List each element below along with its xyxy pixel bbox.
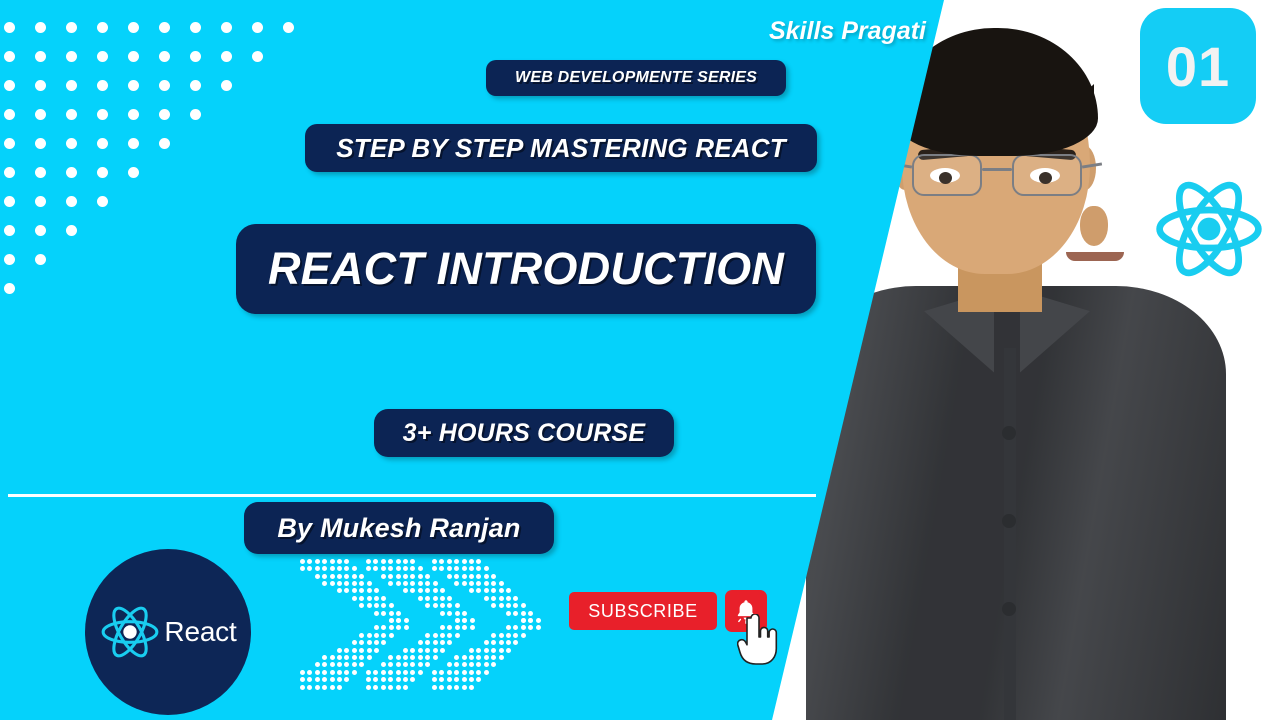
- decor-dot: [66, 167, 77, 178]
- decor-dot: [66, 196, 77, 207]
- halftone-chevron-arrows: [300, 560, 540, 680]
- chevron-dot: [367, 648, 372, 653]
- chevron-dot: [462, 581, 467, 586]
- chevron-dot: [396, 662, 401, 667]
- chevron-dot: [330, 670, 335, 675]
- chevron-dot: [388, 655, 393, 660]
- chevron-dot: [352, 581, 357, 586]
- chevron-dot: [476, 670, 481, 675]
- decor-dot: [35, 254, 46, 265]
- chevron-dot: [404, 618, 409, 623]
- chevron-dot: [396, 559, 401, 564]
- chevron-dot: [322, 662, 327, 667]
- chevron-dot: [484, 574, 489, 579]
- chevron-dot: [396, 685, 401, 690]
- lens-right: [1012, 154, 1082, 196]
- decor-dot: [252, 51, 263, 62]
- chevron-dot: [440, 648, 445, 653]
- decor-dot: [35, 80, 46, 91]
- subtitle-badge: STEP BY STEP MASTERING REACT: [305, 124, 817, 172]
- chevron-dot: [462, 566, 467, 571]
- chevron-dot: [359, 640, 364, 645]
- shirt-button: [1002, 426, 1016, 440]
- chevron-dot: [403, 566, 408, 571]
- chevron-dot: [315, 574, 320, 579]
- chevron-dot: [381, 625, 386, 630]
- chevron-dot: [513, 633, 518, 638]
- chevron-dot: [484, 588, 489, 593]
- chevron-dot: [433, 640, 438, 645]
- chevron-dot: [491, 603, 496, 608]
- decor-dot: [97, 167, 108, 178]
- decor-dot: [128, 138, 139, 149]
- chevron-dot: [528, 625, 533, 630]
- chevron-dot: [476, 662, 481, 667]
- chevron-dot: [528, 618, 533, 623]
- chevron-dot: [418, 640, 423, 645]
- decor-dot: [66, 138, 77, 149]
- decor-dot: [4, 196, 15, 207]
- chevron-dot: [330, 574, 335, 579]
- decor-dot: [4, 283, 15, 294]
- chevron-dot: [447, 566, 452, 571]
- chevron-dot: [513, 603, 518, 608]
- chevron-dot: [337, 648, 342, 653]
- chevron-dot: [499, 588, 504, 593]
- chevron-dot: [469, 588, 474, 593]
- chevron-dot: [499, 640, 504, 645]
- chevron-dot: [410, 648, 415, 653]
- chevron-dot: [352, 640, 357, 645]
- chevron-dot: [388, 670, 393, 675]
- chevron-dot: [359, 588, 364, 593]
- chevron-dot: [440, 640, 445, 645]
- chevron-dot: [403, 685, 408, 690]
- chevron-dot: [374, 633, 379, 638]
- chevron-dot: [447, 670, 452, 675]
- chevron-dot: [359, 581, 364, 586]
- chevron-dot: [484, 566, 489, 571]
- chevron-dot: [454, 559, 459, 564]
- chevron-dot: [300, 670, 305, 675]
- decor-dot: [97, 138, 108, 149]
- chevron-dot: [440, 603, 445, 608]
- chevron-dot: [367, 581, 372, 586]
- series-badge: WEB DEVELOPMENTE SERIES: [486, 60, 786, 96]
- chevron-dot: [440, 633, 445, 638]
- chevron-dot: [330, 685, 335, 690]
- chevron-dot: [418, 670, 423, 675]
- chevron-dot: [455, 625, 460, 630]
- chevron-dot: [344, 648, 349, 653]
- chevron-dot: [469, 670, 474, 675]
- decor-dot: [159, 109, 170, 120]
- decor-dot: [66, 109, 77, 120]
- decor-dot: [128, 109, 139, 120]
- chevron-dot: [506, 588, 511, 593]
- chevron-dot: [433, 596, 438, 601]
- decor-dot: [97, 196, 108, 207]
- chevron-dot: [506, 648, 511, 653]
- decor-dot: [159, 22, 170, 33]
- chevron-dot: [366, 559, 371, 564]
- decor-dot: [4, 80, 15, 91]
- chevron-dot: [374, 640, 379, 645]
- chevron-dot: [337, 574, 342, 579]
- eyeglasses-icon: [904, 154, 1090, 198]
- chevron-dot: [506, 596, 511, 601]
- decor-dot: [190, 80, 201, 91]
- decor-dot: [221, 22, 232, 33]
- chevron-dot: [337, 588, 342, 593]
- chevron-dot: [418, 662, 423, 667]
- chevron-dot: [381, 685, 386, 690]
- chevron-dot: [344, 581, 349, 586]
- chevron-dot: [462, 559, 467, 564]
- chevron-dot: [513, 625, 518, 630]
- chevron-dot: [521, 603, 526, 608]
- nose: [1080, 206, 1108, 246]
- chevron-dot: [344, 574, 349, 579]
- chevron-dot: [506, 625, 511, 630]
- chevron-dot: [322, 670, 327, 675]
- chevron-dot: [403, 581, 408, 586]
- chevron-dot: [367, 655, 372, 660]
- chevron-dot: [462, 655, 467, 660]
- react-atom-icon: [99, 601, 161, 663]
- chevron-dot: [447, 596, 452, 601]
- chevron-dot: [425, 648, 430, 653]
- chevron-dot: [403, 559, 408, 564]
- chevron-dot: [418, 588, 423, 593]
- decor-dot: [190, 22, 201, 33]
- chevron-dot: [476, 588, 481, 593]
- chevron-dot: [499, 603, 504, 608]
- decor-dot: [4, 138, 15, 149]
- decor-dot: [35, 138, 46, 149]
- chevron-dot: [352, 566, 357, 571]
- chevron-dot: [499, 633, 504, 638]
- chevron-dot: [389, 603, 394, 608]
- chevron-dot: [513, 640, 518, 645]
- chevron-dot: [484, 662, 489, 667]
- decor-dot: [221, 51, 232, 62]
- chevron-dot: [433, 603, 438, 608]
- chevron-dot: [381, 603, 386, 608]
- chevron-dot: [315, 566, 320, 571]
- decor-dot: [4, 109, 15, 120]
- chevron-dot: [352, 596, 357, 601]
- chevron-dot: [454, 581, 459, 586]
- chevron-dot: [491, 662, 496, 667]
- chevron-dot: [418, 648, 423, 653]
- chevron-dot: [433, 655, 438, 660]
- chevron-dot: [425, 640, 430, 645]
- chevron-dot: [476, 581, 481, 586]
- chevron-dot: [381, 640, 386, 645]
- chevron-dot: [447, 640, 452, 645]
- chevron-dot: [499, 581, 504, 586]
- chevron-dot: [440, 596, 445, 601]
- chevron-dot: [513, 596, 518, 601]
- chevron-dot: [425, 633, 430, 638]
- chevron-dot: [425, 662, 430, 667]
- chevron-dot: [373, 566, 378, 571]
- chevron-dot: [404, 625, 409, 630]
- chevron-dot: [484, 640, 489, 645]
- chevron-dot: [307, 566, 312, 571]
- chevron-dot: [344, 566, 349, 571]
- chevron-dot: [447, 677, 452, 682]
- chevron-dot: [476, 655, 481, 660]
- chevron-dot: [455, 633, 460, 638]
- decor-dot: [97, 51, 108, 62]
- chevron-dot: [454, 685, 459, 690]
- horizontal-white-rule: [8, 494, 816, 497]
- decor-dot: [35, 51, 46, 62]
- chevron-dot: [513, 611, 518, 616]
- decor-dot: [97, 80, 108, 91]
- chevron-dot: [470, 618, 475, 623]
- chevron-dot: [330, 566, 335, 571]
- chevron-dot: [330, 655, 335, 660]
- chevron-dot: [506, 633, 511, 638]
- decor-dot: [159, 80, 170, 91]
- chevron-dot: [388, 574, 393, 579]
- chevron-dot: [484, 581, 489, 586]
- chevron-dot: [528, 611, 533, 616]
- chevron-dot: [484, 670, 489, 675]
- chevron-dot: [454, 670, 459, 675]
- chevron-dot: [469, 685, 474, 690]
- chevron-dot: [374, 648, 379, 653]
- decor-dot: [66, 225, 77, 236]
- decor-dot: [283, 22, 294, 33]
- chevron-dot: [403, 574, 408, 579]
- chevron-dot: [352, 588, 357, 593]
- decor-dot: [66, 51, 77, 62]
- chevron-dot: [432, 566, 437, 571]
- chevron-dot: [388, 662, 393, 667]
- chevron-dot: [359, 574, 364, 579]
- chevron-dot: [425, 581, 430, 586]
- chevron-dot: [396, 625, 401, 630]
- chevron-dot: [476, 574, 481, 579]
- chevron-dot: [433, 633, 438, 638]
- chevron-dot: [439, 566, 444, 571]
- chevron-dot: [403, 662, 408, 667]
- chevron-dot: [418, 574, 423, 579]
- chevron-dot: [521, 625, 526, 630]
- chevron-dot: [352, 662, 357, 667]
- chevron-dot: [454, 574, 459, 579]
- chevron-dot: [447, 574, 452, 579]
- chevron-dot: [410, 566, 415, 571]
- chevron-dot: [432, 670, 437, 675]
- chevron-dot: [396, 655, 401, 660]
- chevron-dot: [367, 596, 372, 601]
- chevron-dot: [439, 559, 444, 564]
- chevron-dot: [374, 596, 379, 601]
- chevron-dot: [322, 566, 327, 571]
- decor-dot: [35, 225, 46, 236]
- chevron-dot: [344, 655, 349, 660]
- chevron-dot: [469, 648, 474, 653]
- chevron-dot: [337, 581, 342, 586]
- chevron-dot: [389, 611, 394, 616]
- chevron-dot: [381, 566, 386, 571]
- chevron-dot: [491, 596, 496, 601]
- chevron-dot: [315, 677, 320, 682]
- chevron-dot: [410, 559, 415, 564]
- chevron-dot: [462, 677, 467, 682]
- chevron-dot: [521, 618, 526, 623]
- chevron-dot: [469, 574, 474, 579]
- chevron-dot: [476, 559, 481, 564]
- chevron-dot: [425, 588, 430, 593]
- chevron-dot: [396, 581, 401, 586]
- chevron-dot: [307, 559, 312, 564]
- chevron-dot: [499, 596, 504, 601]
- chevron-dot: [344, 559, 349, 564]
- shirt-button: [1002, 514, 1016, 528]
- chevron-dot: [322, 685, 327, 690]
- chevron-dot: [403, 648, 408, 653]
- chevron-dot: [447, 662, 452, 667]
- chevron-dot: [418, 596, 423, 601]
- decor-dot: [97, 109, 108, 120]
- chevron-dot: [410, 581, 415, 586]
- chevron-dot: [337, 685, 342, 690]
- chevron-dot: [367, 633, 372, 638]
- decor-dot: [35, 167, 46, 178]
- chevron-dot: [433, 588, 438, 593]
- chevron-dot: [410, 574, 415, 579]
- chevron-dot: [359, 662, 364, 667]
- chevron-dot: [454, 662, 459, 667]
- chevron-dot: [381, 662, 386, 667]
- chevron-dot: [352, 574, 357, 579]
- chevron-dot: [330, 581, 335, 586]
- chevron-dot: [337, 655, 342, 660]
- chevron-dot: [469, 559, 474, 564]
- chevron-dot: [418, 566, 423, 571]
- decor-dot: [4, 51, 15, 62]
- chevron-dot: [470, 625, 475, 630]
- chevron-dot: [374, 603, 379, 608]
- author-badge: By Mukesh Ranjan: [244, 502, 554, 554]
- chevron-dot: [484, 648, 489, 653]
- chevron-dot: [396, 618, 401, 623]
- episode-number-chip: 01: [1140, 8, 1256, 124]
- decor-dot: [4, 22, 15, 33]
- chevron-dot: [432, 685, 437, 690]
- subscribe-button[interactable]: SUBSCRIBE: [569, 592, 717, 630]
- chevron-dot: [359, 596, 364, 601]
- mouth: [1066, 252, 1124, 261]
- chevron-dot: [366, 566, 371, 571]
- pointing-hand-cursor-icon: [737, 614, 779, 668]
- decor-dot: [4, 225, 15, 236]
- chevron-dot: [410, 588, 415, 593]
- chevron-dot: [491, 655, 496, 660]
- chevron-dot: [462, 611, 467, 616]
- chevron-dot: [381, 633, 386, 638]
- chevron-dot: [418, 655, 423, 660]
- chevron-dot: [389, 633, 394, 638]
- chevron-dot: [536, 618, 541, 623]
- chevron-dot: [300, 559, 305, 564]
- chevron-dot: [344, 588, 349, 593]
- chevron-dot: [315, 670, 320, 675]
- chevron-dot: [374, 588, 379, 593]
- chevron-dot: [432, 559, 437, 564]
- chevron-dot: [521, 611, 526, 616]
- chevron-dot: [300, 566, 305, 571]
- chevron-dot: [455, 618, 460, 623]
- chevron-dot: [469, 655, 474, 660]
- chevron-dot: [491, 574, 496, 579]
- shirt: [806, 286, 1226, 720]
- shirt-placket: [1004, 348, 1016, 720]
- chevron-dot: [366, 670, 371, 675]
- chevron-dot: [476, 566, 481, 571]
- decor-dot: [128, 51, 139, 62]
- chevron-dot: [381, 574, 386, 579]
- chevron-dot: [506, 611, 511, 616]
- chevron-dot: [315, 662, 320, 667]
- chevron-dot: [476, 648, 481, 653]
- shirt-button: [1002, 602, 1016, 616]
- chevron-dot: [367, 603, 372, 608]
- chevron-dot: [455, 611, 460, 616]
- decor-dot: [66, 80, 77, 91]
- chevron-dot: [359, 633, 364, 638]
- chevron-dot: [337, 662, 342, 667]
- chevron-dot: [396, 677, 401, 682]
- decor-dot: [4, 254, 15, 265]
- chevron-dot: [484, 596, 489, 601]
- chevron-dot: [389, 618, 394, 623]
- chevron-dot: [499, 655, 504, 660]
- chevron-dot: [374, 611, 379, 616]
- chevron-dot: [425, 655, 430, 660]
- chevron-dot: [366, 685, 371, 690]
- chevron-dot: [396, 611, 401, 616]
- chevron-dot: [425, 574, 430, 579]
- chevron-dot: [337, 566, 342, 571]
- chevron-dot: [307, 670, 312, 675]
- chevron-dot: [499, 648, 504, 653]
- decor-dot: [128, 167, 139, 178]
- chevron-dot: [396, 574, 401, 579]
- chevron-dot: [439, 670, 444, 675]
- chevron-dot: [462, 670, 467, 675]
- chevron-dot: [433, 648, 438, 653]
- chevron-dot: [337, 670, 342, 675]
- chevron-dot: [447, 603, 452, 608]
- chevron-dot: [491, 581, 496, 586]
- chevron-dot: [418, 581, 423, 586]
- chevron-dot: [344, 662, 349, 667]
- chevron-dot: [440, 611, 445, 616]
- chevron-dot: [330, 677, 335, 682]
- chevron-dot: [484, 655, 489, 660]
- chevron-dot: [462, 685, 467, 690]
- duration-badge: 3+ HOURS COURSE: [374, 409, 674, 457]
- decor-dot: [66, 22, 77, 33]
- chevron-dot: [315, 685, 320, 690]
